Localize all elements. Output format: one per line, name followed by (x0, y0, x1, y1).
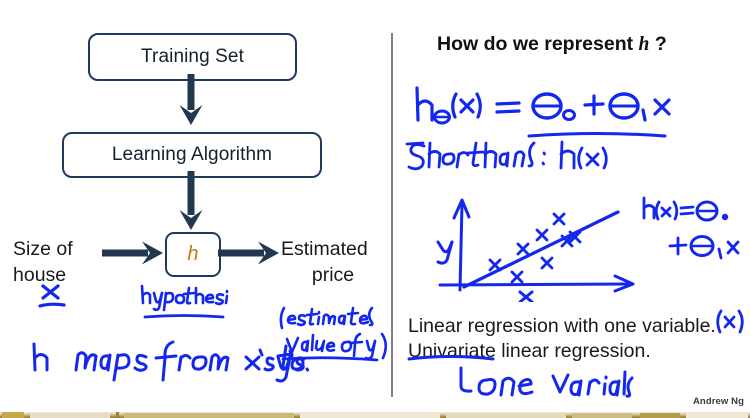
ink-equation-hypothesis (411, 86, 685, 148)
chart-data-points (490, 214, 580, 282)
ink-y-apostrophe-s (268, 345, 312, 389)
taskbar-item[interactable] (640, 413, 680, 418)
input-label-line1: Size of (13, 236, 73, 262)
regression-scatter-chart (432, 192, 648, 307)
credit-andrew-ng: Andrew Ng (693, 396, 744, 407)
arrow-training-to-learning (178, 74, 204, 133)
taskbar-clock[interactable] (686, 413, 748, 418)
ink-x-under-house (38, 281, 68, 309)
output-label-line2: price (281, 262, 385, 288)
taskbar-item[interactable] (300, 413, 440, 418)
ink-one-variable-note (405, 352, 635, 404)
ink-h-maps-from-x-to-y (28, 340, 308, 386)
taskbar-item[interactable] (30, 413, 110, 418)
taskbar-item[interactable] (124, 413, 294, 418)
taskbar-items[interactable] (0, 412, 750, 418)
ink-shorthand-note (404, 140, 634, 178)
chart-y-axis-label (438, 242, 452, 263)
ink-x-paren-note (712, 308, 746, 338)
output-label-estimated-price: Estimated price (281, 236, 385, 288)
hypothesis-h-symbol: h (187, 243, 198, 266)
ink-line-equation-label (640, 196, 748, 266)
taskbar-item[interactable] (2, 412, 24, 418)
output-label-line1: Estimated (281, 236, 385, 262)
text-linear-regression-line1: Linear regression with one variable. (408, 313, 716, 339)
right-panel-title: How do we represent h ? (437, 33, 667, 56)
taskbar-divider (116, 412, 119, 418)
arrow-learning-to-h (178, 171, 204, 238)
flow-box-hypothesis[interactable]: h (165, 232, 221, 277)
taskbar-item[interactable] (446, 413, 566, 418)
chart-x-axis-label (520, 292, 532, 302)
arrow-h-to-output (218, 240, 282, 271)
ink-hypothesis-annotation (139, 284, 231, 320)
slide-canvas: Training Set Learning Algorithm h Size o… (0, 0, 750, 418)
arrow-input-to-h (102, 240, 166, 271)
taskbar-item[interactable] (572, 413, 632, 418)
